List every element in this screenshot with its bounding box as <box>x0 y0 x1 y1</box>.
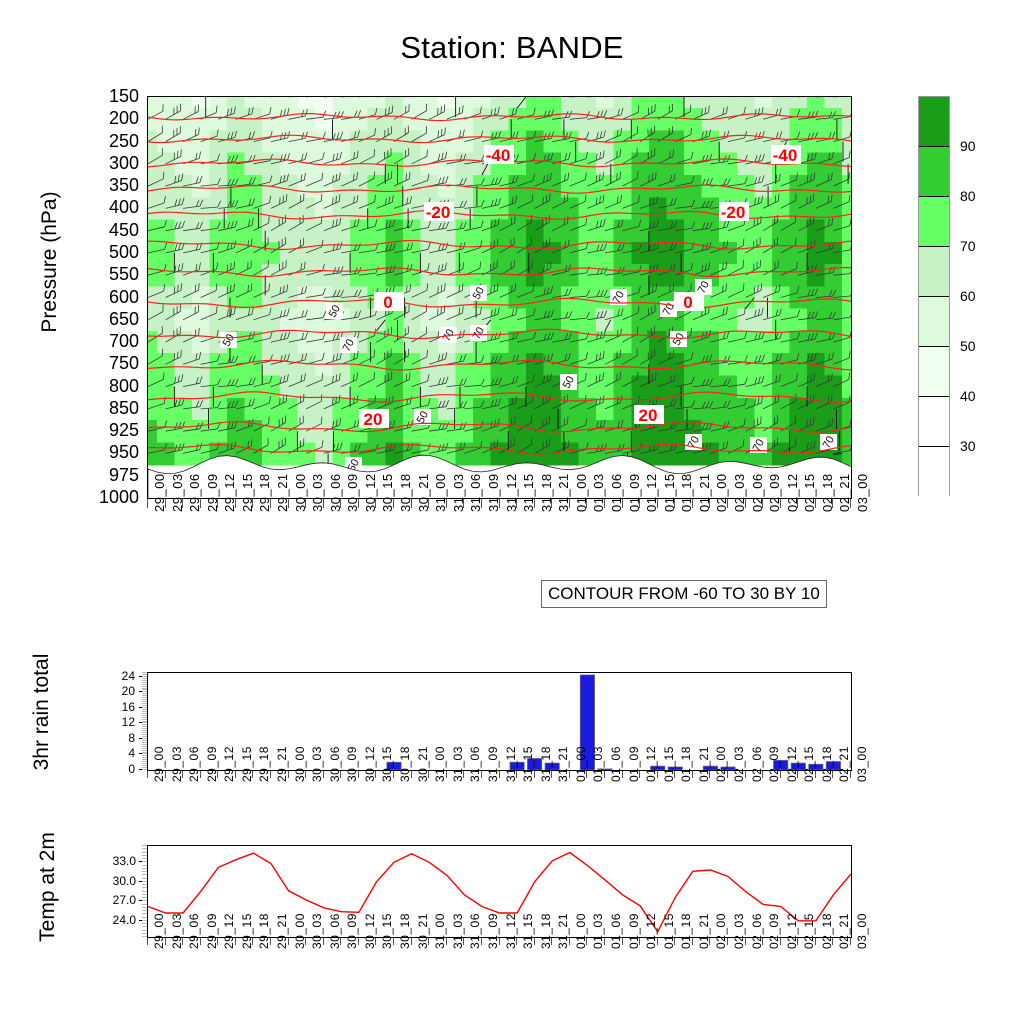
y-tick-label: 950 <box>95 443 139 461</box>
y-tick-label: 975 <box>95 466 139 484</box>
temp-panel-x-tick-labels: 29_0029_0329_0629_0929_1229_1529_1829_21… <box>147 949 853 1009</box>
x-tick-label: 01_18 <box>679 473 694 512</box>
x-tick-label: 02_15 <box>802 746 816 782</box>
x-tick-label: 02_15 <box>802 473 817 512</box>
x-tick-label: 01_09 <box>627 746 641 782</box>
y-tick-label: 500 <box>95 243 139 261</box>
x-tick-label: 30_15 <box>380 473 395 512</box>
temperature-contour-label: -20 <box>424 202 454 222</box>
temperature-contour-label: -20 <box>719 202 749 222</box>
x-tick-label: 31_15 <box>521 473 536 512</box>
x-tick-label: 02_03 <box>732 746 746 782</box>
y-tick-label: 8 <box>105 732 135 744</box>
x-tick-label: 01_15 <box>662 746 676 782</box>
x-tick-label: 31_00 <box>433 913 447 949</box>
x-tick-label: 01_15 <box>662 913 676 949</box>
x-tick-label: 01_21 <box>697 473 712 512</box>
x-tick-label: 31_09 <box>486 746 500 782</box>
y-tick-label: 24.0 <box>98 914 136 926</box>
y-tick-label: 0 <box>105 763 135 775</box>
temperature-contour-label: -40 <box>771 145 801 165</box>
cross-section-svg: 5050505050707070707070707070909090707070… <box>148 97 851 498</box>
x-tick-label: 31_21 <box>556 473 571 512</box>
x-tick-label: 02_06 <box>750 913 764 949</box>
colorbar-tick-label: 70 <box>960 238 976 254</box>
x-tick-label: 30_00 <box>293 913 307 949</box>
x-tick-label: 01_21 <box>697 746 711 782</box>
x-tick-label: 01_09 <box>627 473 642 512</box>
x-tick-label: 02_18 <box>820 746 834 782</box>
temperature-contour-label: -40 <box>484 145 514 165</box>
x-tick-label: 29_00 <box>152 473 167 512</box>
x-tick-label: 29_18 <box>257 913 271 949</box>
x-tick-mark <box>147 771 148 778</box>
main-panel-y-tick-labels: 1502002503003504004505005506006507007508… <box>95 96 143 499</box>
x-tick-label: 31_15 <box>521 746 535 782</box>
x-tick-label: 31_03 <box>451 913 465 949</box>
x-tick-label: 01_00 <box>574 473 589 512</box>
x-tick-label: 02_09 <box>767 913 781 949</box>
x-tick-label: 29_12 <box>222 913 236 949</box>
x-tick-label: 31_06 <box>468 746 482 782</box>
x-tick-label: 31_18 <box>539 473 554 512</box>
x-tick-label: 29_15 <box>240 473 255 512</box>
x-tick-label: 31_09 <box>486 913 500 949</box>
rh-contour-label: 50 <box>470 285 487 302</box>
x-tick-label: 30_06 <box>328 746 342 782</box>
x-tick-label: 02_12 <box>785 913 799 949</box>
page-title: Station: BANDE <box>0 30 1024 66</box>
x-tick-label: 03_00 <box>855 473 870 512</box>
temp-panel-y-tick-labels: 33.030.027.024.0 <box>98 845 138 938</box>
y-tick-label: 4 <box>105 747 135 759</box>
y-tick-label: 350 <box>95 176 139 194</box>
x-tick-label: 30_12 <box>363 913 377 949</box>
rh-contour-label: 50 <box>560 374 577 391</box>
rain-panel-y-tick-labels: 24201612840 <box>105 672 139 771</box>
rain-panel-y-axis-label: 3hr rain total <box>30 632 54 792</box>
x-tick-label: 29_00 <box>152 913 166 949</box>
x-tick-label: 01_18 <box>679 746 693 782</box>
y-tick-label: 16 <box>105 701 135 713</box>
x-tick-label: 30_00 <box>293 473 308 512</box>
x-tick-label: 02_00 <box>714 473 729 512</box>
x-tick-label: 29_15 <box>240 746 254 782</box>
x-tick-label: 30_09 <box>345 473 360 512</box>
x-tick-label: 30_03 <box>310 473 325 512</box>
x-tick-label: 30_03 <box>310 746 324 782</box>
x-tick-label: 01_00 <box>574 746 588 782</box>
x-tick-label: 31_09 <box>486 473 501 512</box>
svg-text:20: 20 <box>364 410 383 429</box>
x-tick-label: 02_12 <box>785 473 800 512</box>
x-tick-label: 03_00 <box>855 746 869 782</box>
y-tick-label: 1000 <box>95 488 139 506</box>
temperature-contour-label: 20 <box>359 409 389 429</box>
y-tick-label: 400 <box>95 198 139 216</box>
x-tick-label: 02_03 <box>732 473 747 512</box>
x-tick-label: 29_03 <box>170 913 184 949</box>
x-tick-label: 02_12 <box>785 746 799 782</box>
x-tick-label: 02_21 <box>837 746 851 782</box>
x-tick-label: 30_21 <box>416 746 430 782</box>
y-tick-label: 12 <box>105 716 135 728</box>
x-tick-label: 02_00 <box>714 913 728 949</box>
temp-panel-y-axis-label: Temp at 2m <box>36 807 60 967</box>
svg-text:0: 0 <box>683 293 692 312</box>
x-tick-label: 01_15 <box>662 473 677 512</box>
x-tick-label: 31_18 <box>539 746 553 782</box>
x-tick-label: 01_09 <box>627 913 641 949</box>
x-tick-label: 29_03 <box>170 746 184 782</box>
svg-text:-40: -40 <box>773 146 798 165</box>
x-tick-label: 02_06 <box>750 746 764 782</box>
svg-text:-40: -40 <box>486 146 511 165</box>
x-tick-mark <box>147 499 148 508</box>
x-tick-label: 29_09 <box>205 913 219 949</box>
x-tick-label: 02_18 <box>820 473 835 512</box>
x-tick-label: 30_15 <box>380 746 394 782</box>
x-tick-label: 30_15 <box>380 913 394 949</box>
y-tick-label: 300 <box>95 154 139 172</box>
main-panel-x-tick-labels: 29_0029_0329_0629_0929_1229_1529_1829_21… <box>147 512 853 582</box>
x-tick-label: 29_06 <box>187 473 202 512</box>
x-tick-label: 29_12 <box>222 473 237 512</box>
x-tick-label: 29_00 <box>152 746 166 782</box>
rain-panel-x-tick-labels: 29_0029_0329_0629_0929_1229_1529_1829_21… <box>147 782 853 842</box>
temperature-contour-label: 0 <box>674 292 704 312</box>
y-tick-label: 250 <box>95 132 139 150</box>
x-tick-label: 30_06 <box>328 913 342 949</box>
colorbar-tick-label: 30 <box>960 438 976 454</box>
x-tick-label: 31_03 <box>451 473 466 512</box>
x-tick-label: 01_21 <box>697 913 711 949</box>
x-tick-label: 29_12 <box>222 746 236 782</box>
rh-contour-label: 70 <box>470 325 487 342</box>
x-tick-label: 02_18 <box>820 913 834 949</box>
x-tick-label: 01_12 <box>644 746 658 782</box>
x-tick-label: 03_00 <box>855 913 869 949</box>
x-tick-label: 01_00 <box>574 913 588 949</box>
x-tick-label: 30_12 <box>363 473 378 512</box>
rh-contour-label: 50 <box>326 303 343 320</box>
x-tick-label: 01_06 <box>609 913 623 949</box>
x-tick-label: 31_15 <box>521 913 535 949</box>
y-tick-label: 650 <box>95 310 139 328</box>
x-tick-label: 31_18 <box>539 913 553 949</box>
x-tick-label: 29_09 <box>205 746 219 782</box>
x-tick-label: 02_09 <box>767 746 781 782</box>
y-tick-label: 20 <box>105 685 135 697</box>
rh-contour-label: 50 <box>220 332 237 349</box>
x-tick-label: 30_00 <box>293 746 307 782</box>
x-tick-label: 02_00 <box>714 746 728 782</box>
x-tick-label: 30_21 <box>416 473 431 512</box>
x-tick-label: 02_15 <box>802 913 816 949</box>
x-tick-label: 31_21 <box>556 746 570 782</box>
humidity-cross-section-plot[interactable]: 5050505050707070707070707070909090707070… <box>147 96 852 499</box>
x-tick-label: 01_06 <box>609 473 624 512</box>
y-tick-label: 30.0 <box>98 875 136 887</box>
x-tick-label: 02_09 <box>767 473 782 512</box>
x-tick-label: 02_21 <box>837 473 852 512</box>
x-tick-label: 30_18 <box>398 473 413 512</box>
svg-text:0: 0 <box>383 293 392 312</box>
x-tick-label: 01_03 <box>591 913 605 949</box>
x-tick-label: 30_09 <box>345 746 359 782</box>
svg-text:-20: -20 <box>721 203 746 222</box>
x-tick-label: 31_12 <box>504 746 518 782</box>
x-tick-label: 29_15 <box>240 913 254 949</box>
x-tick-label: 29_06 <box>187 746 201 782</box>
colorbar-tick-label: 60 <box>960 288 976 304</box>
colorbar-tick-labels: 90807060504030 <box>918 96 1018 496</box>
y-tick-label: 150 <box>95 87 139 105</box>
x-tick-label: 01_03 <box>591 473 606 512</box>
y-tick-label: 850 <box>95 399 139 417</box>
x-tick-label: 30_21 <box>416 913 430 949</box>
x-tick-label: 31_12 <box>504 913 518 949</box>
x-tick-label: 29_21 <box>275 746 289 782</box>
x-tick-label: 29_21 <box>275 473 290 512</box>
contour-interval-note: CONTOUR FROM -60 TO 30 BY 10 <box>541 580 827 608</box>
x-tick-label: 31_21 <box>556 913 570 949</box>
x-tick-label: 30_18 <box>398 746 412 782</box>
x-tick-mark <box>147 938 148 945</box>
x-tick-label: 30_12 <box>363 746 377 782</box>
temperature-contour-label: 0 <box>374 292 404 312</box>
x-tick-label: 02_06 <box>750 473 765 512</box>
x-tick-label: 01_12 <box>644 473 659 512</box>
x-tick-label: 29_06 <box>187 913 201 949</box>
x-tick-label: 31_06 <box>468 473 483 512</box>
y-tick-label: 800 <box>95 377 139 395</box>
y-tick-label: 700 <box>95 332 139 350</box>
x-tick-label: 29_18 <box>257 746 271 782</box>
x-tick-label: 31_00 <box>433 473 448 512</box>
x-tick-label: 01_06 <box>609 746 623 782</box>
x-tick-label: 01_03 <box>591 746 605 782</box>
colorbar-tick-label: 80 <box>960 188 976 204</box>
y-tick-label: 200 <box>95 109 139 127</box>
x-tick-label: 31_12 <box>504 473 519 512</box>
x-tick-label: 02_03 <box>732 913 746 949</box>
colorbar-tick-label: 90 <box>960 138 976 154</box>
x-tick-label: 01_12 <box>644 913 658 949</box>
y-tick-label: 925 <box>95 421 139 439</box>
x-tick-label: 30_09 <box>345 913 359 949</box>
x-tick-label: 31_06 <box>468 913 482 949</box>
x-tick-label: 29_09 <box>205 473 220 512</box>
x-tick-label: 30_03 <box>310 913 324 949</box>
colorbar-tick-label: 40 <box>960 388 976 404</box>
x-tick-label: 30_18 <box>398 913 412 949</box>
main-panel-y-axis-label: Pressure (hPa) <box>38 62 62 462</box>
x-tick-label: 29_18 <box>257 473 272 512</box>
x-tick-label: 29_21 <box>275 913 289 949</box>
x-tick-label: 29_03 <box>170 473 185 512</box>
temperature-contour-label: 20 <box>634 405 664 425</box>
x-tick-label: 01_18 <box>679 913 693 949</box>
x-tick-label: 31_00 <box>433 746 447 782</box>
svg-text:20: 20 <box>639 406 658 425</box>
y-tick-label: 33.0 <box>98 855 136 867</box>
x-tick-label: 02_21 <box>837 913 851 949</box>
y-tick-label: 450 <box>95 221 139 239</box>
y-tick-label: 600 <box>95 288 139 306</box>
rh-contour-label: 50 <box>670 331 687 348</box>
rh-contour-label: 70 <box>340 337 357 354</box>
y-tick-label: 24 <box>105 670 135 682</box>
y-tick-label: 27.0 <box>98 894 136 906</box>
colorbar-tick-label: 50 <box>960 338 976 354</box>
y-tick-label: 550 <box>95 265 139 283</box>
x-tick-label: 31_03 <box>451 746 465 782</box>
x-tick-label: 30_06 <box>328 473 343 512</box>
svg-text:-20: -20 <box>426 203 451 222</box>
y-tick-label: 750 <box>95 354 139 372</box>
